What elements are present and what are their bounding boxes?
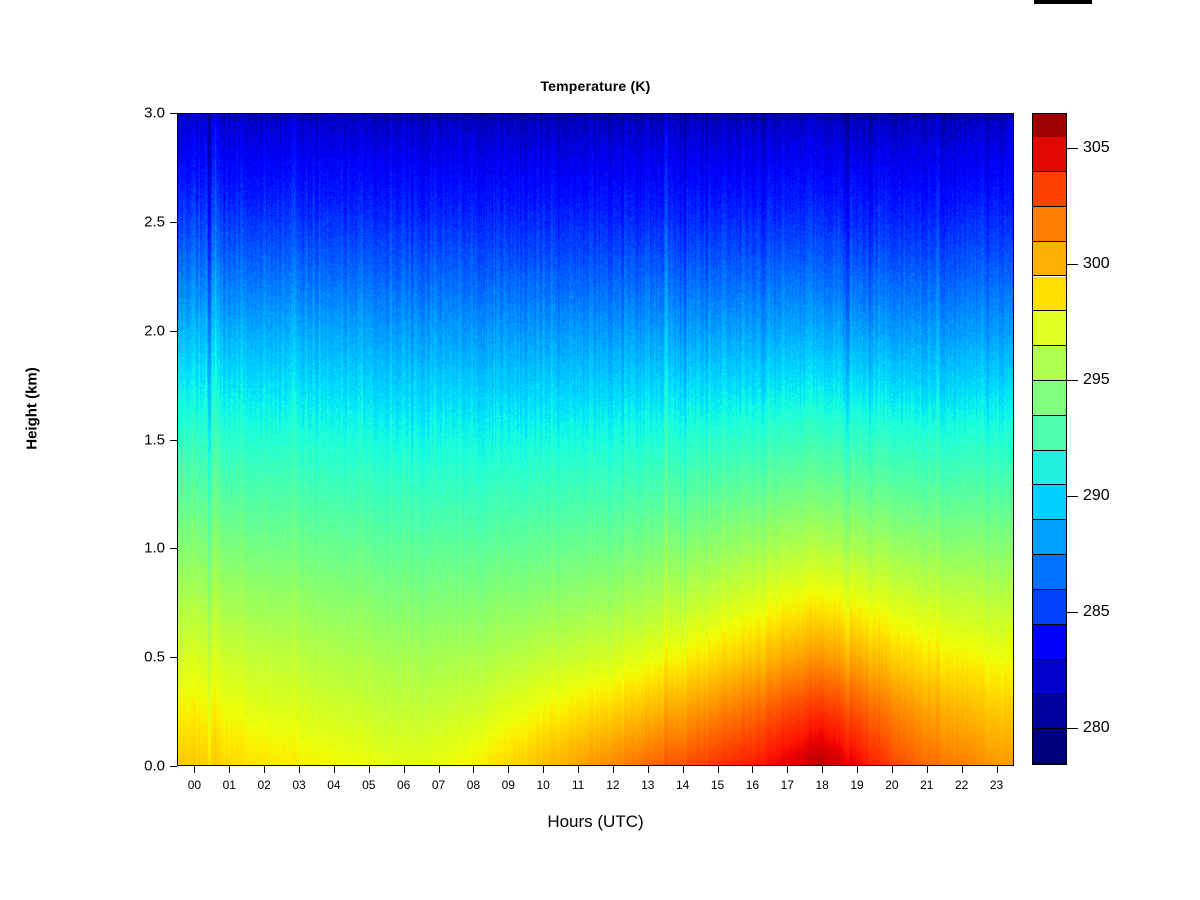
colorbar-tick-mark — [1067, 612, 1078, 613]
x-tick-mark — [543, 766, 544, 773]
colorbar-block — [1033, 520, 1066, 555]
x-tick-label: 15 — [711, 778, 724, 792]
y-tick-label: 3.0 — [144, 105, 165, 122]
x-tick-label: 09 — [502, 778, 515, 792]
x-tick-label: 03 — [292, 778, 305, 792]
x-tick-mark — [857, 766, 858, 773]
x-tick-mark — [648, 766, 649, 773]
temperature-heatmap — [178, 114, 1013, 765]
x-tick-mark — [822, 766, 823, 773]
colorbar-tick-mark — [1067, 148, 1078, 149]
x-tick-label: 04 — [327, 778, 340, 792]
x-tick-label: 10 — [537, 778, 550, 792]
x-tick-label: 19 — [850, 778, 863, 792]
colorbar-block — [1033, 311, 1066, 346]
y-tick-label: 1.0 — [144, 540, 165, 557]
x-tick-label: 01 — [223, 778, 236, 792]
x-tick-mark — [683, 766, 684, 773]
colorbar-tick-mark — [1067, 728, 1078, 729]
y-tick-label: 0.5 — [144, 649, 165, 666]
y-axis-title: Height (km) — [24, 329, 41, 489]
x-tick-mark — [927, 766, 928, 773]
figure-canvas: Temperature (K) 0.00.51.01.52.02.53.0 He… — [0, 0, 1200, 900]
colorbar-tick-label: 280 — [1083, 719, 1110, 737]
x-axis-title: Hours (UTC) — [177, 812, 1014, 832]
colorbar-block — [1033, 625, 1066, 660]
x-tick-mark — [439, 766, 440, 773]
colorbar-block — [1033, 172, 1066, 207]
x-tick-label: 00 — [188, 778, 201, 792]
x-tick-mark — [613, 766, 614, 773]
x-tick-label: 20 — [885, 778, 898, 792]
colorbar-tick-mark — [1067, 264, 1078, 265]
colorbar-block — [1033, 137, 1066, 172]
y-tick-label: 1.5 — [144, 431, 165, 448]
colorbar-block — [1033, 590, 1066, 625]
x-tick-mark — [473, 766, 474, 773]
colorbar-tick-mark — [1067, 380, 1078, 381]
colorbar-tick-mark — [1067, 496, 1078, 497]
x-tick-label: 05 — [362, 778, 375, 792]
x-tick-mark — [578, 766, 579, 773]
x-tick-label: 08 — [467, 778, 480, 792]
colorbar-block — [1033, 660, 1066, 695]
y-tick-mark — [170, 548, 177, 549]
y-tick-mark — [170, 440, 177, 441]
x-tick-mark — [369, 766, 370, 773]
x-tick-mark — [787, 766, 788, 773]
x-tick-label: 12 — [606, 778, 619, 792]
x-tick-mark — [892, 766, 893, 773]
x-tick-label: 21 — [920, 778, 933, 792]
plot-title: Temperature (K) — [177, 78, 1014, 94]
x-tick-label: 02 — [258, 778, 271, 792]
y-tick-label: 0.0 — [144, 758, 165, 775]
colorbar-tick-label: 305 — [1083, 139, 1110, 157]
y-tick-mark — [170, 113, 177, 114]
colorbar-tick-label: 285 — [1083, 603, 1110, 621]
x-tick-label: 22 — [955, 778, 968, 792]
x-axis-tick-labels: 0001020304050607080910111213141516171819… — [177, 778, 1014, 796]
y-tick-label: 2.5 — [144, 213, 165, 230]
heatmap-plot-area — [177, 113, 1014, 766]
y-axis-tick-labels: 0.00.51.01.52.02.53.0 — [95, 113, 165, 766]
x-axis-ticks — [177, 766, 1014, 776]
x-tick-mark — [997, 766, 998, 773]
x-tick-mark — [508, 766, 509, 773]
colorbar-block — [1033, 729, 1066, 764]
colorbar-tick-label: 300 — [1083, 255, 1110, 273]
colorbar-ticks — [1067, 113, 1081, 765]
x-tick-label: 06 — [397, 778, 410, 792]
x-tick-label: 07 — [432, 778, 445, 792]
colorbar-tick-labels: 280285290295300305 — [1083, 113, 1163, 765]
x-tick-mark — [334, 766, 335, 773]
x-tick-mark — [229, 766, 230, 773]
x-tick-label: 11 — [572, 778, 584, 792]
colorbar-block — [1033, 416, 1066, 451]
y-tick-mark — [170, 657, 177, 658]
x-tick-label: 16 — [746, 778, 759, 792]
colorbar-block — [1033, 242, 1066, 277]
clipped-colorbar-fragment — [1034, 0, 1092, 4]
colorbar-tick-label: 290 — [1083, 487, 1110, 505]
y-tick-mark — [170, 766, 177, 767]
x-tick-mark — [718, 766, 719, 773]
colorbar-block — [1033, 485, 1066, 520]
colorbar-block — [1033, 114, 1066, 137]
x-tick-mark — [962, 766, 963, 773]
x-tick-mark — [404, 766, 405, 773]
x-tick-label: 17 — [781, 778, 794, 792]
x-tick-label: 18 — [816, 778, 829, 792]
y-tick-label: 2.0 — [144, 322, 165, 339]
x-tick-label: 23 — [990, 778, 1003, 792]
colorbar-block — [1033, 555, 1066, 590]
x-tick-mark — [299, 766, 300, 773]
x-tick-label: 14 — [676, 778, 689, 792]
colorbar-block — [1033, 277, 1066, 312]
x-tick-mark — [752, 766, 753, 773]
y-tick-mark — [170, 222, 177, 223]
colorbar-block — [1033, 451, 1066, 486]
colorbar-block — [1033, 207, 1066, 242]
x-tick-mark — [194, 766, 195, 773]
x-tick-label: 13 — [641, 778, 654, 792]
colorbar-block — [1033, 694, 1066, 729]
x-tick-mark — [264, 766, 265, 773]
colorbar — [1032, 113, 1067, 765]
colorbar-tick-label: 295 — [1083, 371, 1110, 389]
y-tick-mark — [170, 331, 177, 332]
colorbar-block — [1033, 346, 1066, 381]
colorbar-block — [1033, 381, 1066, 416]
